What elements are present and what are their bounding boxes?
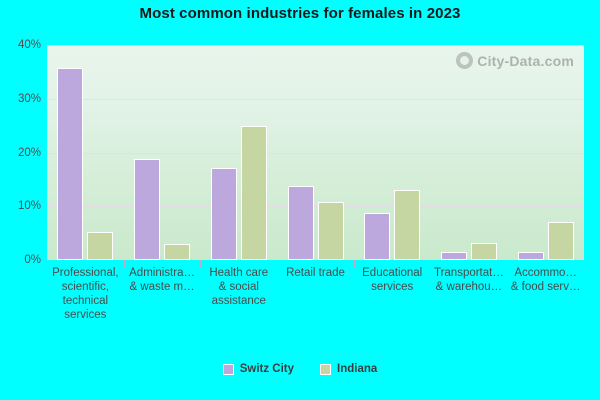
bar-indiana[interactable] <box>394 190 420 260</box>
x-axis-category-line: scientific, <box>47 280 124 294</box>
gridline <box>47 206 584 207</box>
globe-icon <box>456 52 473 69</box>
x-axis-category-line: Professional, <box>47 266 124 280</box>
legend-label-indiana: Indiana <box>337 363 377 375</box>
x-axis-category-line: services <box>47 308 124 322</box>
x-axis-category-line: Administra… <box>124 266 201 280</box>
x-axis-category-label: Transportat…& warehou… <box>431 266 508 294</box>
gridline <box>47 153 584 154</box>
bar-switz-city[interactable] <box>441 252 467 260</box>
bar-switz-city[interactable] <box>211 168 237 260</box>
bar-switz-city[interactable] <box>364 213 390 260</box>
x-axis-category-line: Retail trade <box>277 266 354 280</box>
gridline <box>47 45 584 46</box>
y-axis-tick-label: 40% <box>0 39 41 51</box>
bar-switz-city[interactable] <box>518 252 544 260</box>
chart-title: Most common industries for females in 20… <box>0 5 600 22</box>
bar-indiana[interactable] <box>241 126 267 260</box>
y-axis-tick-label: 10% <box>0 200 41 212</box>
x-axis-category-line: Educational <box>354 266 431 280</box>
bar-indiana[interactable] <box>87 232 113 260</box>
x-axis-category-line: & social <box>200 280 277 294</box>
bar-switz-city[interactable] <box>57 68 83 260</box>
gridline <box>47 99 584 100</box>
x-axis-category-line: technical <box>47 294 124 308</box>
x-axis-category-line: & warehou… <box>431 280 508 294</box>
x-axis-category-label: Accommo…& food serv… <box>507 266 584 294</box>
x-axis-category-label: Administra…& waste m… <box>124 266 201 294</box>
x-axis-category-line: & food serv… <box>507 280 584 294</box>
x-axis-category-label: Professional,scientific,technicalservice… <box>47 266 124 322</box>
bar-indiana[interactable] <box>318 202 344 260</box>
bar-indiana[interactable] <box>164 244 190 260</box>
legend-swatch-switz-city <box>223 364 234 375</box>
x-axis-category-line: Transportat… <box>431 266 508 280</box>
legend-item-switz-city[interactable]: Switz City <box>223 363 294 375</box>
x-axis-category-line: & waste m… <box>124 280 201 294</box>
x-axis-category-line: services <box>354 280 431 294</box>
legend-label-switz-city: Switz City <box>240 363 294 375</box>
x-axis-category-label: Retail trade <box>277 266 354 280</box>
x-axis-category-line: assistance <box>200 294 277 308</box>
x-axis-category-label: Educationalservices <box>354 266 431 294</box>
y-axis-tick-label: 20% <box>0 147 41 159</box>
x-axis-category-line: Health care <box>200 266 277 280</box>
bar-indiana[interactable] <box>471 243 497 260</box>
x-axis-category-label: Health care& socialassistance <box>200 266 277 308</box>
bar-switz-city[interactable] <box>288 186 314 260</box>
y-axis-tick-label: 0% <box>0 254 41 266</box>
bar-switz-city[interactable] <box>134 159 160 260</box>
chart-container: Most common industries for females in 20… <box>0 0 600 400</box>
watermark: City-Data.com <box>456 52 574 69</box>
legend-swatch-indiana <box>320 364 331 375</box>
bar-indiana[interactable] <box>548 222 574 260</box>
y-axis-tick-label: 30% <box>0 93 41 105</box>
legend-item-indiana[interactable]: Indiana <box>320 363 377 375</box>
x-axis-category-line: Accommo… <box>507 266 584 280</box>
watermark-text: City-Data.com <box>477 53 574 69</box>
chart-legend: Switz City Indiana <box>0 363 600 375</box>
